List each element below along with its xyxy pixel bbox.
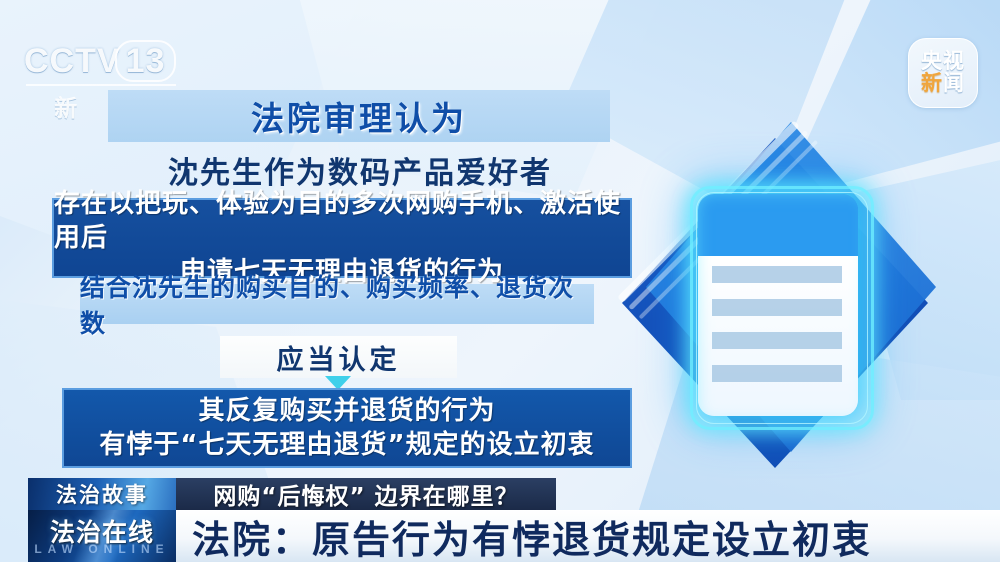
finding-box-one: 存在以把玩、体验为目的多次网购手机、激活使用后 申请七天无理由退货的行为: [52, 198, 632, 278]
app-badge-line1: 央视: [921, 51, 965, 73]
verdict-label-text: 应当认定: [277, 338, 401, 377]
finding-box-two: 其反复购买并退货的行为 有悖于“七天无理由退货”规定的设立初衷: [62, 388, 632, 468]
criteria-band-text: 结合沈先生的购买目的、购买频率、退货次数: [80, 268, 594, 340]
document-glow-ring: [696, 192, 868, 424]
channel-number: 13: [115, 40, 177, 82]
finding-box-one-line1: 存在以把玩、体验为目的多次网购手机、激活使用后: [54, 187, 630, 255]
show-category-tag: 法治故事: [28, 478, 176, 510]
subtitle-row: 法治故事 网购“后悔权” 边界在哪里？: [28, 478, 556, 510]
headline-text: 法院：原告行为有悖退货规定设立初衷: [192, 509, 872, 562]
program-logo-en: LAW ONLINE: [28, 542, 176, 556]
story-subtitle-text: 网购“后悔权” 边界在哪里？: [213, 477, 518, 511]
finding-box-two-line1: 其反复购买并退货的行为: [198, 394, 495, 428]
story-subtitle-box: 网购“后悔权” 边界在哪里？: [176, 478, 556, 510]
lower-third: 法治故事 网购“后悔权” 边界在哪里？ 法治在线 LAW ONLINE 法院：原…: [0, 476, 1000, 562]
cctv-news-app-badge: 央视 新闻: [908, 38, 978, 108]
broadcast-frame: CCTV13 新 闻 央视 新闻 法院审理认为 沈先生作为数码产品爱好者 存在以…: [0, 0, 1000, 562]
headline-bar: 法院：原告行为有悖退货规定设立初衷: [176, 510, 1000, 562]
channel-bug-rule: [26, 84, 176, 86]
headline-row: 法治在线 LAW ONLINE 法院：原告行为有悖退货规定设立初衷: [0, 510, 1000, 562]
section-header-text: 法院审理认为: [108, 90, 610, 142]
app-badge-char-hot: 新: [921, 72, 943, 95]
verdict-label-box: 应当认定: [220, 336, 457, 378]
show-category-text: 法治故事: [56, 479, 148, 509]
criteria-band: 结合沈先生的购买目的、购买频率、退货次数: [80, 284, 594, 324]
channel-brand-text: CCTV: [24, 42, 121, 80]
app-badge-line2: 新闻: [921, 73, 965, 95]
section-header-band: 法院审理认为: [108, 90, 610, 142]
channel-bug-brand: CCTV13: [24, 40, 204, 82]
document-diamond-graphic: [612, 128, 942, 480]
app-badge-char-cool: 闻: [943, 72, 965, 95]
lead-sentence: 沈先生作为数码产品爱好者: [110, 148, 610, 192]
finding-box-two-line2: 有悖于“七天无理由退货”规定的设立初衷: [99, 428, 594, 462]
program-logo: 法治在线 LAW ONLINE: [28, 510, 176, 562]
